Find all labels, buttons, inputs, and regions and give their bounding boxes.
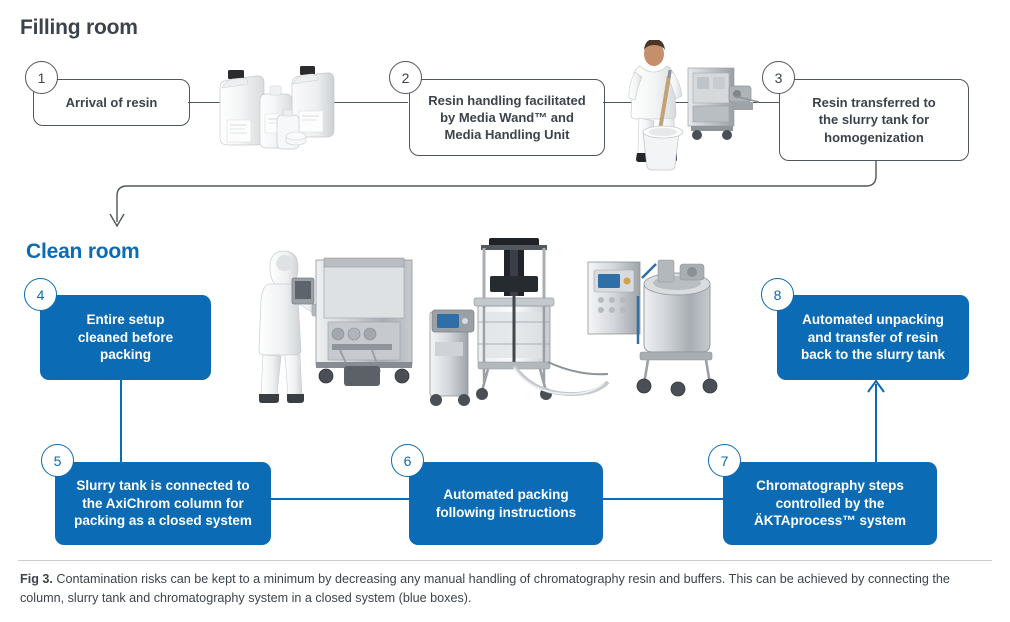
- step-number-1: 1: [38, 70, 46, 86]
- step-number-6: 6: [404, 453, 412, 469]
- cleanroom-chromatography-equipment-photo: [252, 234, 722, 410]
- connector-step7-to-step8: [846, 372, 906, 468]
- step-label-6: Automated packing following instructions: [424, 486, 588, 522]
- figure-caption: Fig 3. Contamination risks can be kept t…: [20, 570, 980, 608]
- step-badge-1: 1: [25, 61, 58, 94]
- figure-label: Fig 3.: [20, 572, 53, 586]
- connector-step6-to-step7: [603, 498, 723, 500]
- step-number-7: 7: [721, 453, 729, 469]
- operator-with-media-wand-photo: [613, 40, 763, 175]
- step-box-7[interactable]: Chromatography steps controlled by the Ä…: [723, 462, 937, 545]
- step-box-6[interactable]: Automated packing following instructions: [409, 462, 603, 545]
- caption-divider: [18, 560, 992, 561]
- step-box-5[interactable]: Slurry tank is connected to the AxiChrom…: [55, 462, 271, 545]
- connector-step3-to-clean-room: [0, 0, 1010, 260]
- step-badge-4: 4: [24, 278, 57, 311]
- step-label-7: Chromatography steps controlled by the Ä…: [742, 477, 918, 530]
- step-label-4: Entire setup cleaned before packing: [66, 311, 185, 364]
- step-number-4: 4: [37, 287, 45, 303]
- step-number-5: 5: [54, 453, 62, 469]
- step-label-8: Automated unpacking and transfer of resi…: [789, 311, 957, 364]
- connector-step4-to-step5: [120, 380, 122, 462]
- step-badge-7: 7: [708, 444, 741, 477]
- step-badge-2: 2: [389, 61, 422, 94]
- step-number-3: 3: [775, 70, 783, 86]
- figure-canvas: Filling room Clean room Arrival of resin…: [0, 0, 1010, 622]
- figure-caption-text: Contamination risks can be kept to a min…: [20, 572, 950, 605]
- step-box-4[interactable]: Entire setup cleaned before packing: [40, 295, 211, 380]
- step-number-2: 2: [402, 70, 410, 86]
- step-label-5: Slurry tank is connected to the AxiChrom…: [62, 477, 264, 530]
- step-box-8[interactable]: Automated unpacking and transfer of resi…: [777, 295, 969, 380]
- resin-bottles-photo: [214, 58, 344, 158]
- connector-step5-to-step6: [271, 498, 410, 500]
- step-badge-5: 5: [41, 444, 74, 477]
- step-badge-8: 8: [761, 278, 794, 311]
- step-number-8: 8: [774, 287, 782, 303]
- step-badge-6: 6: [391, 444, 424, 477]
- step-badge-3: 3: [762, 61, 795, 94]
